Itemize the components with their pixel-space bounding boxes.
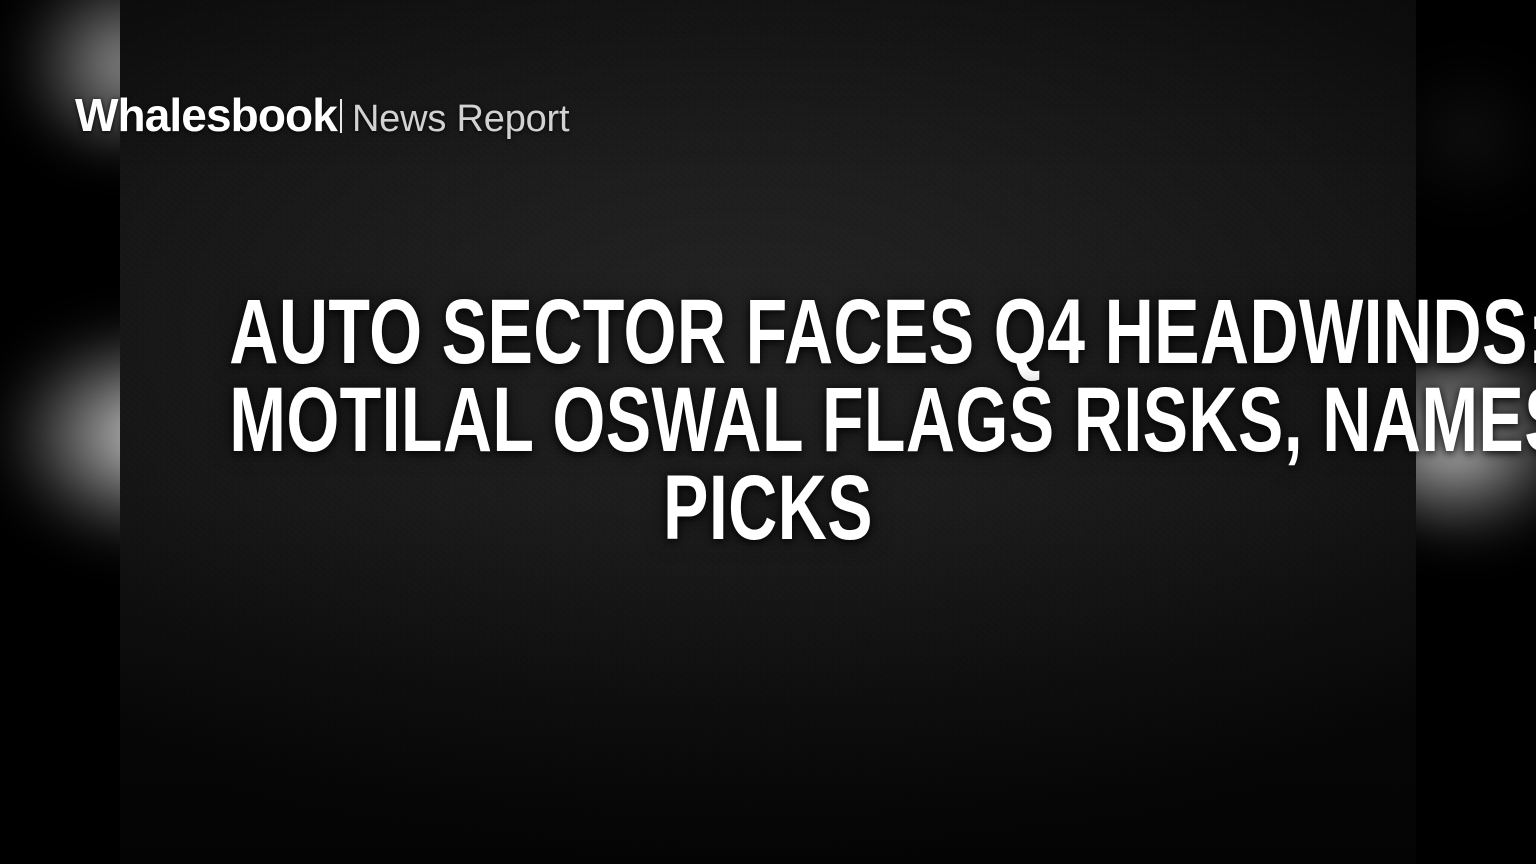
brand-subtitle: News Report bbox=[352, 100, 569, 138]
headline-line-1: AUTO SECTOR FACES Q4 HEADWINDS: bbox=[229, 288, 1306, 376]
headline: AUTO SECTOR FACES Q4 HEADWINDS: MOTILAL … bbox=[0, 288, 1536, 552]
headline-line-3: PICKS bbox=[229, 464, 1306, 552]
brand-lockup[interactable]: Whalesbook News Report bbox=[75, 92, 569, 138]
news-report-card: Whalesbook News Report AUTO SECTOR FACES… bbox=[0, 0, 1536, 864]
brand-name: Whalesbook bbox=[75, 92, 337, 138]
brand-divider-icon bbox=[340, 99, 342, 133]
backdrop-glow-right-faint bbox=[1400, 60, 1536, 210]
headline-line-2: MOTILAL OSWAL FLAGS RISKS, NAMES TOP bbox=[229, 376, 1306, 464]
